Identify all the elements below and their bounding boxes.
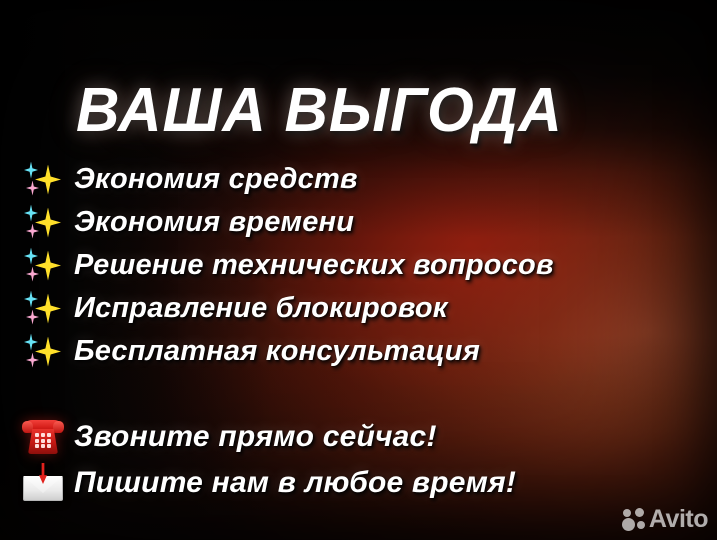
contact-list: Звоните прямо сейчас! Пишите нам в любое… [12, 414, 712, 506]
sparkles-icon [12, 203, 74, 243]
benefits-list: Экономия средств Экономия времени [12, 158, 712, 373]
list-item: Решение технических вопросов [12, 244, 712, 287]
list-item: Исправление блокировок [12, 287, 712, 330]
sparkles-icon [12, 160, 74, 200]
list-item: Экономия времени [12, 201, 712, 244]
poster-content: ВАША ВЫГОДА Экономия средств [0, 0, 717, 540]
list-item: Экономия средств [12, 158, 712, 201]
page-title: ВАША ВЫГОДА [76, 80, 563, 142]
sparkles-icon [12, 332, 74, 372]
benefit-label: Экономия времени [74, 206, 354, 239]
benefit-label: Решение технических вопросов [74, 249, 554, 282]
list-item: Бесплатная консультация [12, 330, 712, 373]
avito-logo-icon [622, 508, 645, 531]
benefit-label: Исправление блокировок [74, 292, 448, 325]
call-now-row: Звоните прямо сейчас! [12, 414, 712, 460]
benefit-label: Бесплатная консультация [74, 335, 480, 368]
call-now-label: Звоните прямо сейчас! [74, 420, 437, 454]
promo-poster: ВАША ВЫГОДА Экономия средств [0, 0, 717, 540]
avito-wordmark: Avito [649, 507, 708, 532]
write-us-row: Пишите нам в любое время! [12, 460, 712, 506]
avito-watermark: Avito [622, 507, 708, 532]
write-us-label: Пишите нам в любое время! [74, 466, 516, 500]
telephone-icon [12, 418, 74, 456]
envelope-incoming-icon [12, 463, 74, 503]
sparkles-icon [12, 246, 74, 286]
benefit-label: Экономия средств [74, 163, 358, 196]
sparkles-icon [12, 289, 74, 329]
